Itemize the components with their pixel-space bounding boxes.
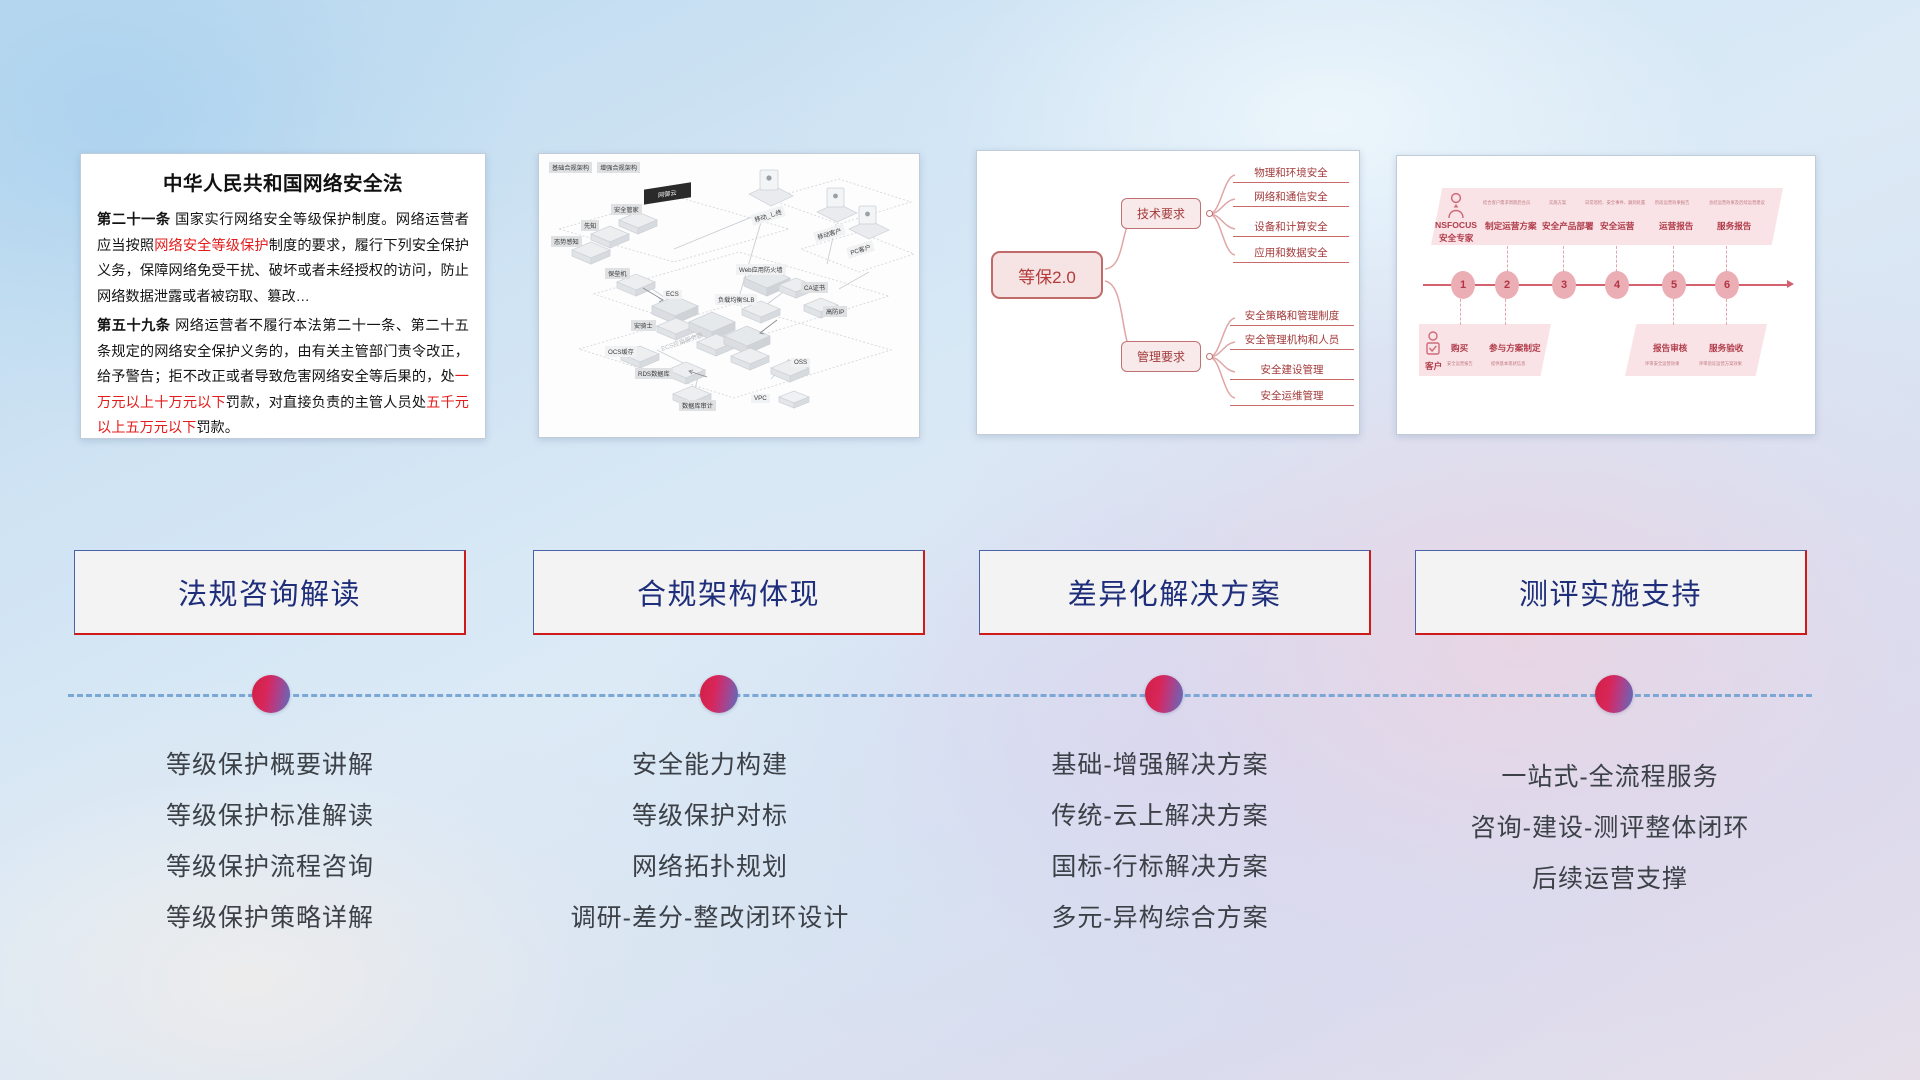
label-box-evaluation-support[interactable]: 测评实施支持 [1415, 550, 1807, 635]
detail-list-evaluation-support: 一站式-全流程服务 咨询-建设-测评整体闭环 后续运营支撑 [1390, 752, 1830, 905]
list-item: 传统-云上解决方案 [940, 791, 1380, 842]
label-box-regulation-consulting[interactable]: 法规咨询解读 [74, 550, 466, 635]
list-item: 调研-差分-整改闭环设计 [490, 893, 930, 944]
timeline-dashed-line [68, 694, 1812, 697]
list-item: 一站式-全流程服务 [1390, 752, 1830, 803]
timeline-dot-4[interactable] [1595, 675, 1633, 713]
detail-list-regulation-consulting: 等级保护概要讲解 等级保护标准解读 等级保护流程咨询 等级保护策略详解 [50, 740, 490, 944]
list-item: 等级保护策略详解 [50, 893, 490, 944]
timeline-dot-1[interactable] [252, 675, 290, 713]
detail-list-compliance-architecture: 安全能力构建 等级保护对标 网络拓扑规划 调研-差分-整改闭环设计 [490, 740, 930, 944]
list-item: 等级保护标准解读 [50, 791, 490, 842]
list-item: 等级保护对标 [490, 791, 930, 842]
timeline-dot-3[interactable] [1145, 675, 1183, 713]
timeline-dot-2[interactable] [700, 675, 738, 713]
detail-list-differentiated-solution: 基础-增强解决方案 传统-云上解决方案 国标-行标解决方案 多元-异构综合方案 [940, 740, 1380, 944]
label-box-differentiated-solution[interactable]: 差异化解决方案 [979, 550, 1371, 635]
label-text: 法规咨询解读 [178, 571, 361, 613]
list-item: 多元-异构综合方案 [940, 893, 1380, 944]
list-item: 等级保护流程咨询 [50, 842, 490, 893]
label-text: 差异化解决方案 [1068, 571, 1282, 613]
list-item: 等级保护概要讲解 [50, 740, 490, 791]
label-text: 合规架构体现 [637, 571, 820, 613]
list-item: 后续运营支撑 [1390, 854, 1830, 905]
label-box-compliance-architecture[interactable]: 合规架构体现 [533, 550, 925, 635]
list-item: 咨询-建设-测评整体闭环 [1390, 803, 1830, 854]
list-item: 安全能力构建 [490, 740, 930, 791]
list-item: 基础-增强解决方案 [940, 740, 1380, 791]
list-item: 国标-行标解决方案 [940, 842, 1380, 893]
label-text: 测评实施支持 [1519, 571, 1702, 613]
list-item: 网络拓扑规划 [490, 842, 930, 893]
